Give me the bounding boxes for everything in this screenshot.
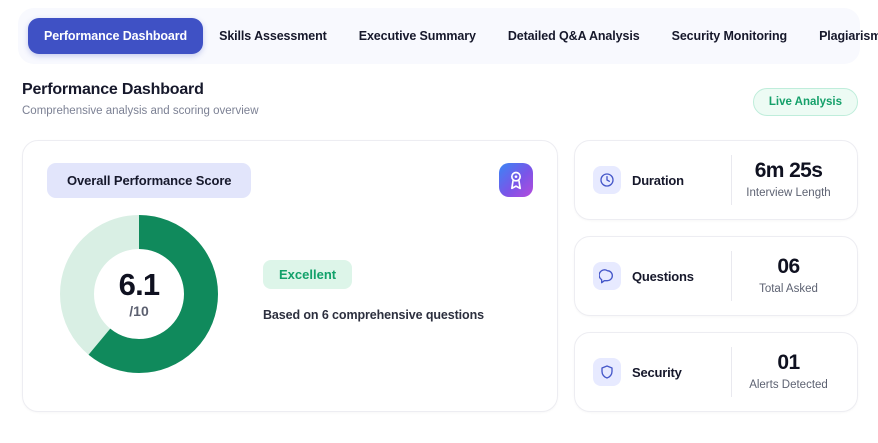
award-ribbon-icon (499, 163, 533, 197)
stat-duration-value: 6m 25s (738, 159, 839, 183)
tab-executive-summary[interactable]: Executive Summary (343, 18, 492, 54)
tab-plagiarism-analysis[interactable]: Plagiarism Analysis (803, 18, 878, 54)
stat-security-caption: Alerts Detected (738, 378, 839, 393)
rating-badge: Excellent (263, 260, 352, 289)
page-subtitle: Comprehensive analysis and scoring overv… (22, 104, 858, 119)
stat-security-right: 01 Alerts Detected (732, 351, 839, 393)
stat-duration-left: Duration (593, 166, 731, 194)
overall-score-label: Overall Performance Score (47, 163, 251, 198)
tab-skills-assessment[interactable]: Skills Assessment (203, 18, 343, 54)
stat-duration-label: Duration (632, 173, 684, 188)
stat-questions-label: Questions (632, 269, 694, 284)
score-description: Based on 6 comprehensive questions (263, 308, 484, 322)
performance-dashboard-page: Performance Dashboard Skills Assessment … (0, 0, 878, 443)
stat-card-questions: Questions 06 Total Asked (574, 236, 858, 316)
shield-icon (593, 358, 621, 386)
stat-security-label: Security (632, 365, 682, 380)
score-value: 6.1 (119, 269, 160, 301)
tab-performance-dashboard[interactable]: Performance Dashboard (28, 18, 203, 54)
overall-score-card: Overall Performance Score 6.1 (22, 140, 558, 412)
stat-questions-value: 06 (738, 255, 839, 279)
stat-card-security: Security 01 Alerts Detected (574, 332, 858, 412)
tab-bar: Performance Dashboard Skills Assessment … (18, 8, 860, 64)
stat-questions-right: 06 Total Asked (732, 255, 839, 297)
stat-duration-caption: Interview Length (738, 186, 839, 201)
score-donut-chart: 6.1 /10 (59, 214, 219, 374)
score-summary: Excellent Based on 6 comprehensive quest… (263, 260, 484, 328)
score-card-header: Overall Performance Score (47, 163, 533, 198)
stat-security-left: Security (593, 358, 731, 386)
page-title: Performance Dashboard (22, 80, 858, 100)
chat-bubble-icon (593, 262, 621, 290)
score-max: /10 (129, 302, 148, 320)
score-card-body: 6.1 /10 Excellent Based on 6 comprehensi… (47, 214, 533, 374)
tab-detailed-qa-analysis[interactable]: Detailed Q&A Analysis (492, 18, 656, 54)
donut-center-labels: 6.1 /10 (59, 214, 219, 374)
stat-duration-right: 6m 25s Interview Length (732, 159, 839, 201)
status-badge[interactable]: Live Analysis (753, 88, 858, 116)
tab-security-monitoring[interactable]: Security Monitoring (656, 18, 803, 54)
stat-security-value: 01 (738, 351, 839, 375)
stat-questions-left: Questions (593, 262, 731, 290)
clock-icon (593, 166, 621, 194)
stat-questions-caption: Total Asked (738, 282, 839, 297)
page-header: Performance Dashboard Comprehensive anal… (22, 80, 858, 128)
stat-card-duration: Duration 6m 25s Interview Length (574, 140, 858, 220)
